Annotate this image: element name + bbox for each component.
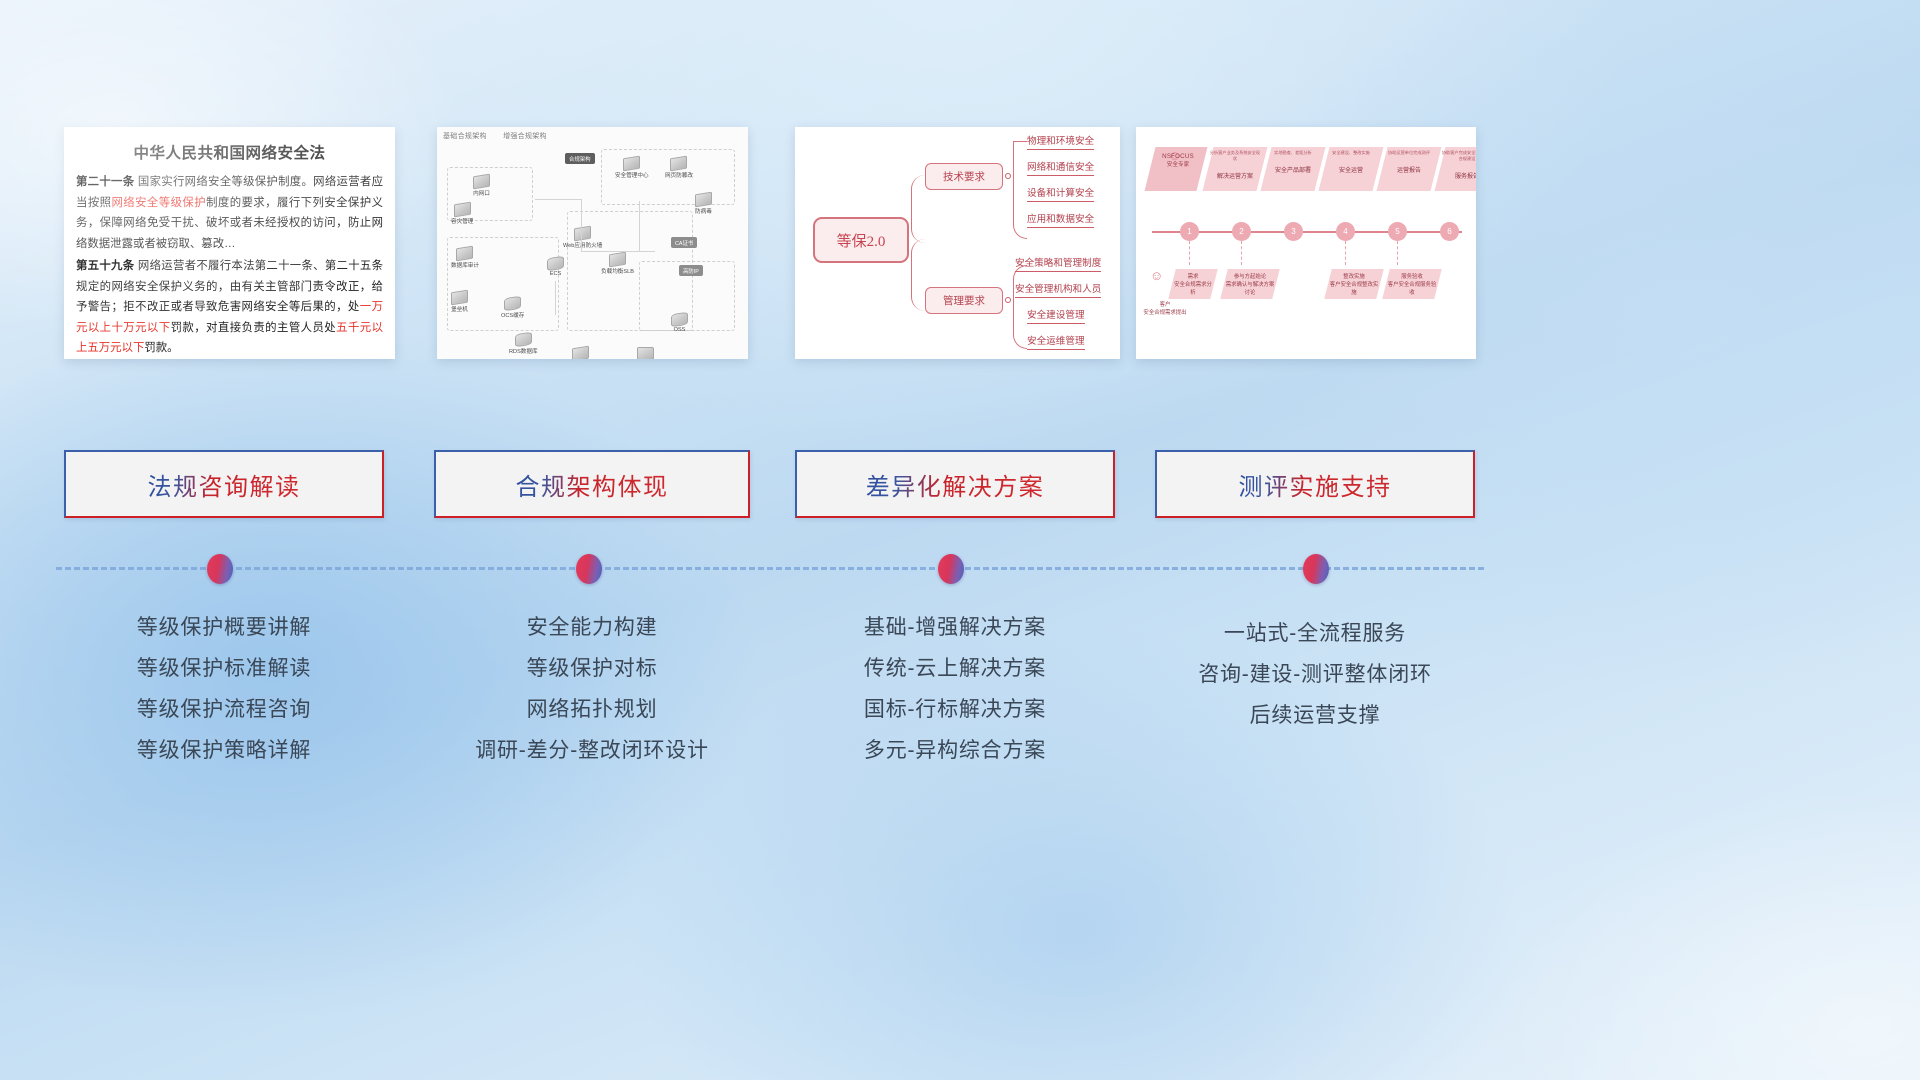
node-rds: RDS数据库 <box>509 333 538 355</box>
database-icon <box>515 332 532 348</box>
nsfocus-customer-label: 客户 安全合规需求提出 <box>1142 301 1188 317</box>
nsfocus-step-title: 安全产品部署 <box>1266 156 1320 174</box>
connector <box>555 281 556 315</box>
bottom-title: 客户 <box>1142 301 1188 309</box>
nsfocus-node-5: 5 <box>1388 222 1407 241</box>
timeline-marker-4[interactable] <box>1303 554 1329 584</box>
nsfocus-step-5: 协助客户完成安全运维整体合规建设 服务报告 <box>1440 147 1476 191</box>
nsfocus-step-3: 安全建设、整改实施 安全运营 <box>1324 147 1378 191</box>
antivirus-icon <box>695 192 712 208</box>
pillar-bullets-2: 安全能力构建 等级保护对标 网络拓扑规划 调研-差分-整改闭环设计 <box>434 607 750 771</box>
list-item: 多元-异构综合方案 <box>795 730 1115 771</box>
list-item: 国标-行标解决方案 <box>795 689 1115 730</box>
pillar-heading-button-2[interactable]: 合规架构体现 <box>434 450 750 518</box>
card-cybersecurity-law: 中华人民共和国网络安全法 第二十一条 国家实行网络安全等级保护制度。网络运营者应… <box>64 127 395 359</box>
article-59-mid: 罚款，对直接负责的主管人员处 <box>171 322 337 334</box>
server-icon <box>454 202 471 218</box>
nsfocus-step-caption: 协助运营单位完成测评 <box>1382 147 1436 156</box>
pillar-heading-label-4: 测评实施支持 <box>1239 467 1392 502</box>
bottom-title: 服务验收 <box>1386 273 1438 281</box>
node-waf: Web应用防火墙 <box>563 227 602 249</box>
nsfocus-step-title: 解决运营方案 <box>1208 162 1262 180</box>
lock-icon <box>670 156 687 172</box>
list-item: 基础-增强解决方案 <box>795 607 1115 648</box>
architecture-diagram: 基础合规架构 增强合规架构 合规架构 内网口 <box>437 127 748 359</box>
timeline-marker-3[interactable] <box>938 554 964 584</box>
card-compliance-architecture: 基础合规架构 增强合规架构 合规架构 内网口 <box>437 127 748 359</box>
node-label: RDS数据库 <box>509 349 538 355</box>
node-disaster-recovery: 容灾管理 <box>451 203 473 225</box>
article-21-highlight: 网络安全等级保护 <box>111 197 206 209</box>
node-antivirus: 防病毒 <box>695 193 712 215</box>
node-label: OCS缓存 <box>501 313 524 319</box>
customer-icon: ☺ <box>1150 269 1163 282</box>
node-intranet-port: 内网口 <box>473 175 490 197</box>
mindmap-leaf-construction-mgmt: 安全建设管理 <box>1027 307 1085 324</box>
nsfocus-bottom-3: 整改实施 客户安全合规整改实施 <box>1328 273 1380 297</box>
cache-icon <box>504 296 521 312</box>
audit-icon <box>572 346 589 359</box>
mindmap-leaf-device-compute: 设备和计算安全 <box>1027 185 1094 202</box>
nsfocus-node-4: 4 <box>1336 222 1355 241</box>
nsfocus-step-caption: 实地勘查、差距分析 <box>1266 147 1320 156</box>
law-article-59: 第五十九条 网络运营者不履行本法第二十一条、第二十五条规定的网络安全保护义务的，… <box>76 256 383 359</box>
bottom-sub: 安全合规需求分析 <box>1172 281 1214 297</box>
network-icon <box>637 347 654 359</box>
slide-canvas: 中华人民共和国网络安全法 第二十一条 国家实行网络安全等级保护制度。网络运营者应… <box>0 0 1920 1080</box>
nsfocus-step-caption: 协助客户完成安全运维整体合规建设 <box>1440 147 1476 162</box>
pillar-bullets-4: 一站式-全流程服务 咨询-建设-测评整体闭环 后续运营支撑 <box>1155 613 1475 736</box>
node-ocs-cache: OCS缓存 <box>501 297 524 319</box>
illustration-card-row: 中华人民共和国网络安全法 第二十一条 国家实行网络安全等级保护制度。网络运营者应… <box>0 127 1920 359</box>
pillar-heading-button-3[interactable]: 差异化解决方案 <box>795 450 1115 518</box>
node-label: 堡垒机 <box>451 307 468 313</box>
nsfocus-bottom-1: 需求 安全合规需求分析 <box>1172 273 1214 297</box>
node-label: 容灾管理 <box>451 219 473 225</box>
list-item: 安全能力构建 <box>434 607 750 648</box>
list-item: 等级保护策略详解 <box>64 730 384 771</box>
list-item: 等级保护对标 <box>434 648 750 689</box>
node-ecs: ECS <box>547 257 564 277</box>
mindmap-fan-technical-bottom <box>1013 177 1027 239</box>
mindmap-leaf-ops-mgmt: 安全运维管理 <box>1027 333 1085 350</box>
bottom-title: 参与方起始论 <box>1224 273 1276 281</box>
timeline-dashed-axis <box>56 567 1484 570</box>
node-label: OSS <box>674 327 686 333</box>
nsfocus-lead-text: NSFOCUS 安全专家 <box>1154 153 1202 169</box>
mindmap-branch-management: 管理要求 <box>925 287 1003 314</box>
nsfocus-role: 安全专家 <box>1154 161 1202 169</box>
nsfocus-step-caption: 分析客户业务及系统安全现状 <box>1208 147 1262 162</box>
architecture-tab-enhanced: 增强合规架构 <box>503 133 547 140</box>
list-item: 等级保护标准解读 <box>64 648 384 689</box>
mindmap-leaf-org-personnel: 安全管理机构和人员 <box>1015 281 1101 298</box>
server-icon <box>473 174 490 190</box>
nsfocus-step-title: 安全运营 <box>1324 156 1378 174</box>
nsfocus-step-1: 分析客户业务及系统安全现状 解决运营方案 <box>1208 147 1262 191</box>
mindmap-leaf-network-comm: 网络和通信安全 <box>1027 159 1094 176</box>
bottom-sub: 客户安全合规整改实施 <box>1328 281 1380 297</box>
node-slb: 负载均衡SLB <box>601 253 634 275</box>
mindmap-collapse-dot-management[interactable] <box>1005 297 1011 303</box>
architecture-tab-basic: 基础合规架构 <box>443 133 487 140</box>
node-label: Web应用防火墙 <box>563 243 602 249</box>
node-label: 网页防篡改 <box>665 173 693 179</box>
bottom-sub: 客户安全合规服务验收 <box>1386 281 1438 297</box>
bottom-sub: 需求确认与解决方案讨论 <box>1224 281 1276 297</box>
list-item: 等级保护流程咨询 <box>64 689 384 730</box>
nsfocus-step-4: 协助运营单位完成测评 运营报告 <box>1382 147 1436 191</box>
pillar-heading-button-1[interactable]: 法规咨询解读 <box>64 450 384 518</box>
pillar-bullets-1: 等级保护概要讲解 等级保护标准解读 等级保护流程咨询 等级保护策略详解 <box>64 607 384 771</box>
timeline-marker-1[interactable] <box>207 554 233 584</box>
load-balancer-icon <box>609 252 626 268</box>
node-label: 负载均衡SLB <box>601 269 634 275</box>
shield-icon <box>451 290 468 306</box>
mindmap-root: 等保2.0 <box>813 217 909 263</box>
nsfocus-step-title: 运营报告 <box>1382 156 1436 174</box>
mindmap-leaf-app-data: 应用和数据安全 <box>1027 211 1094 228</box>
nsfocus-timeline: ☺ NSFOCUS 安全专家 分析客户业务及系统安全现状 解决运营方案 <box>1136 127 1476 359</box>
list-item: 后续运营支撑 <box>1155 695 1475 736</box>
node-db-audit-2: 数据库审计 <box>567 347 595 359</box>
compute-icon <box>547 256 564 272</box>
storage-icon <box>671 312 688 328</box>
pillar-heading-label-3: 差异化解决方案 <box>866 467 1045 502</box>
card-nsfocus-service-timeline: ☺ NSFOCUS 安全专家 分析客户业务及系统安全现状 解决运营方案 <box>1136 127 1476 359</box>
law-title: 中华人民共和国网络安全法 <box>76 141 383 163</box>
mindmap-branch-technical: 技术要求 <box>925 163 1003 190</box>
nsfocus-bottom-2: 参与方起始论 需求确认与解决方案讨论 <box>1224 273 1276 297</box>
architecture-tabs: 基础合规架构 增强合规架构 <box>443 131 561 141</box>
connector <box>535 199 581 200</box>
article-59-post: 罚款。 <box>144 342 178 354</box>
connector <box>581 199 582 251</box>
nsfocus-bottom-4: 服务验收 客户安全合规服务验收 <box>1386 273 1438 297</box>
article-59-label: 第五十九条 <box>76 260 134 272</box>
nsfocus-drop-2 <box>1241 241 1242 265</box>
node-label: 防病毒 <box>695 209 712 215</box>
chip-ca-certificate: CA证书 <box>671 237 697 248</box>
list-item: 调研-差分-整改闭环设计 <box>434 730 750 771</box>
nsfocus-step-caption: 安全建设、整改实施 <box>1324 147 1378 156</box>
node-label: 安全管理中心 <box>615 173 649 179</box>
bottom-title: 整改实施 <box>1328 273 1380 281</box>
mindmap-fan-management-bottom <box>1013 305 1027 349</box>
mindmap-leaf-policy-system: 安全策略和管理制度 <box>1015 255 1101 272</box>
connector <box>581 251 655 252</box>
node-vpc: VPC <box>637 347 654 359</box>
mindmap: 等保2.0 技术要求 管理要求 物理和环境安全 网络和通信安全 设备和计算安全 … <box>795 127 1120 359</box>
node-label: 内网口 <box>473 191 490 197</box>
list-item: 传统-云上解决方案 <box>795 648 1115 689</box>
connector <box>639 201 640 251</box>
nsfocus-step-title: 服务报告 <box>1440 162 1476 180</box>
nsfocus-brand: NSFOCUS <box>1154 153 1202 161</box>
mindmap-collapse-dot-technical[interactable] <box>1005 173 1011 179</box>
database-icon <box>456 246 473 262</box>
list-item: 一站式-全流程服务 <box>1155 613 1475 654</box>
list-item: 等级保护概要讲解 <box>64 607 384 648</box>
card-classified-protection-mindmap: 等保2.0 技术要求 管理要求 物理和环境安全 网络和通信安全 设备和计算安全 … <box>795 127 1120 359</box>
nsfocus-drop-3 <box>1345 241 1346 265</box>
node-db-audit: 数据库审计 <box>451 247 479 269</box>
article-21-label: 第二十一条 <box>76 176 134 188</box>
mindmap-leaf-physical-env: 物理和环境安全 <box>1027 133 1094 150</box>
law-article-21: 第二十一条 国家实行网络安全等级保护制度。网络运营者应当按照网络安全等级保护制度… <box>76 172 383 254</box>
timeline-marker-2[interactable] <box>576 554 602 584</box>
node-oss: OSS <box>671 313 688 333</box>
chip-compliance-architecture: 合规架构 <box>565 153 595 164</box>
node-label: ECS <box>550 271 562 277</box>
node-security-center: 安全管理中心 <box>615 157 649 179</box>
pillar-heading-label-1: 法规咨询解读 <box>148 467 301 502</box>
nsfocus-node-3: 3 <box>1284 222 1303 241</box>
pillar-heading-button-4[interactable]: 测评实施支持 <box>1155 450 1475 518</box>
firewall-icon <box>574 226 591 242</box>
nsfocus-drop-4 <box>1397 241 1398 265</box>
bottom-sub: 安全合规需求提出 <box>1142 309 1188 317</box>
list-item: 咨询-建设-测评整体闭环 <box>1155 654 1475 695</box>
chip-anti-ddos-ip: 高防IP <box>679 265 703 276</box>
nsfocus-drop-1 <box>1189 241 1190 265</box>
node-bastion-host: 堡垒机 <box>451 291 468 313</box>
bottom-title: 需求 <box>1172 273 1214 281</box>
architecture-canvas: 合规架构 内网口 容灾管理 数据库审计 堡垒 <box>443 141 742 353</box>
law-document: 中华人民共和国网络安全法 第二十一条 国家实行网络安全等级保护制度。网络运营者应… <box>64 127 395 359</box>
nsfocus-node-6: 6 <box>1440 222 1459 241</box>
nsfocus-band: ☺ NSFOCUS 安全专家 分析客户业务及系统安全现状 解决运营方案 <box>1150 147 1466 191</box>
nsfocus-step-2: 实地勘查、差距分析 安全产品部署 <box>1266 147 1320 191</box>
list-item: 网络拓扑规划 <box>434 689 750 730</box>
cloud-icon <box>623 156 640 172</box>
node-anti-tamper: 网页防篡改 <box>665 157 693 179</box>
nsfocus-node-2: 2 <box>1232 222 1251 241</box>
nsfocus-node-1: 1 <box>1180 222 1199 241</box>
pillar-bullets-3: 基础-增强解决方案 传统-云上解决方案 国标-行标解决方案 多元-异构综合方案 <box>795 607 1115 771</box>
pillar-heading-label-2: 合规架构体现 <box>516 467 669 502</box>
node-label: 数据库审计 <box>451 263 479 269</box>
